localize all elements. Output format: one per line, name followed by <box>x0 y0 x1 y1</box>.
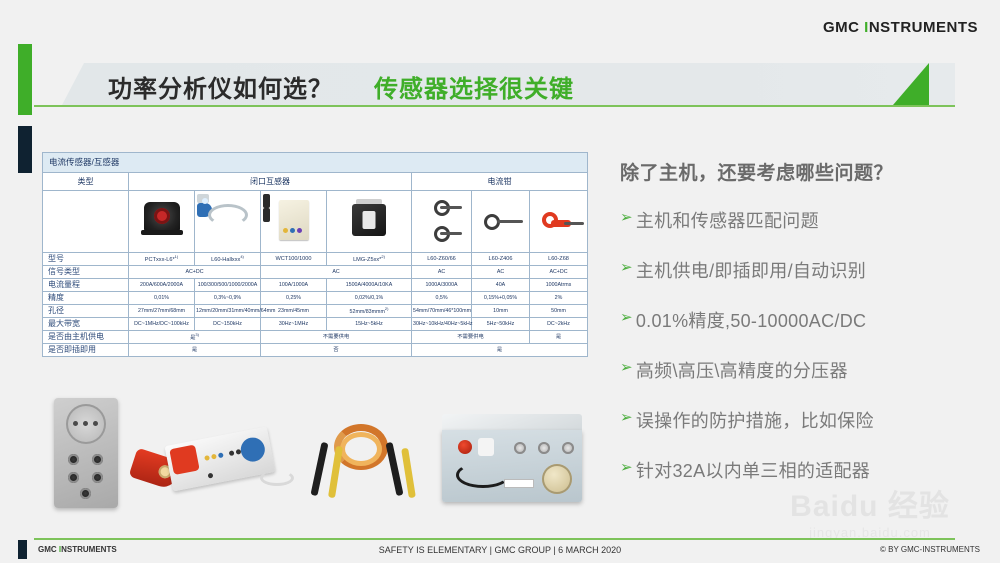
table-row-model: 型号 PCTxxx-L6*1) L60-Hallxxx4) WCT100/100… <box>43 253 588 266</box>
table-image-row <box>43 191 588 253</box>
footer-divider <box>34 538 955 540</box>
chevron-right-icon: ➢ <box>620 457 633 479</box>
page-title: 功率分析仪如何选？ <box>108 69 333 104</box>
instrument-cable-icon <box>456 462 510 488</box>
hall-cable-icon <box>208 204 248 226</box>
jack-u1-icon <box>68 454 79 465</box>
product-image-z60 <box>412 191 472 253</box>
brand-logo-text-1: GMC <box>823 19 864 36</box>
aperture-3: 52mm/83mmm2) <box>327 305 412 318</box>
table-row-bandwidth: 最大带宽 DC~1MHz/DC~100kHz DC~150kHz 30Hz~1M… <box>43 318 588 331</box>
table-row-range: 电流量程 200A/600A/2000A 100/300/500/1000/20… <box>43 279 588 292</box>
clamp-lead-lower-icon <box>440 232 462 235</box>
bullet-label-4: 高频\高压\高精度的分压器 <box>636 357 848 383</box>
signal-ac-2: AC <box>412 266 472 279</box>
lmg-window-icon <box>363 211 376 229</box>
aperture-5: 10mm <box>472 305 530 318</box>
bullet-item-4: ➢ 高频\高压\高精度的分压器 <box>620 357 988 383</box>
lead-tip-yellow-1-icon <box>328 446 343 498</box>
chevron-right-icon: ➢ <box>620 207 633 229</box>
aperture-4: 54mm/70mm/46*100mm <box>412 305 472 318</box>
bandwidth-3: 15Hz~5kHz <box>327 318 412 331</box>
accuracy-1: 0,3%~0,9% <box>195 292 261 305</box>
instrument-label-icon <box>504 479 534 488</box>
brand-logo-text-3: NSTRUMENTS <box>869 19 978 36</box>
model-z406: L60-Z406 <box>472 253 530 266</box>
table-caption: 电流传感器/互感器 <box>43 153 588 173</box>
range-3: 1500A/4000A/10KA <box>327 279 412 292</box>
instrument-faceplate-icon <box>442 430 582 502</box>
model-pct: PCTxxx-L6*1) <box>129 253 195 266</box>
sensor-spec-table: 电流传感器/互感器 类型 闭口互感器 电流钳 <box>42 152 588 357</box>
chevron-right-icon: ➢ <box>620 307 633 329</box>
model-z68: L60-Z68 <box>530 253 588 266</box>
photo-cee-adapter <box>132 430 292 504</box>
model-lmg-text: LMG-Z5xx* <box>353 257 381 263</box>
wct-ear-right-icon <box>263 208 270 222</box>
cee-box-icon <box>165 427 276 492</box>
model-hall-note: 4) <box>240 254 244 259</box>
model-z60: L60-Z60/66 <box>412 253 472 266</box>
product-image-pct <box>129 191 195 253</box>
chevron-right-icon: ➢ <box>620 407 633 429</box>
model-hall: L60-Hallxxx4) <box>195 253 261 266</box>
row-label-aperture: 孔径 <box>43 305 129 318</box>
powered-1: 不需要供电 <box>261 331 412 344</box>
signal-ac-1: AC <box>261 266 412 279</box>
bandwidth-1: DC~150kHz <box>195 318 261 331</box>
aperture-6: 50mm <box>530 305 588 318</box>
cee-terminals-icon <box>202 442 248 485</box>
bandwidth-2: 30Hz~1MHz <box>261 318 327 331</box>
accent-bar-navy <box>18 126 32 173</box>
product-image-z406 <box>472 191 530 253</box>
bandwidth-5: 5Hz~50kHz <box>472 318 530 331</box>
table-row-aperture: 孔径 27mm/27mm/68mm 12mm/20mm/31mm/40mm/64… <box>43 305 588 318</box>
jack-i2-icon <box>92 472 103 483</box>
footer-copyright: © BY GMC-INSTRUMENTS <box>880 545 980 554</box>
aperture-3-text: 52mm/83mmm <box>350 309 385 315</box>
product-image-lmg <box>327 191 412 253</box>
signal-acdc-2: AC+DC <box>530 266 588 279</box>
instrument-bnc-3-icon <box>562 442 574 454</box>
range-6: 1000Atrms <box>530 279 588 292</box>
aperture-3-note: 2) <box>385 306 389 311</box>
accuracy-4: 0,5% <box>412 292 472 305</box>
wct-ear-left-icon <box>263 194 270 208</box>
bullet-label-6: 针对32A以内单三相的适配器 <box>636 457 870 483</box>
accuracy-0: 0,01% <box>129 292 195 305</box>
header-clamp: 电流钳 <box>412 173 588 191</box>
table-header-row: 类型 闭口互感器 电流钳 <box>43 173 588 191</box>
bullet-label-1: 主机和传感器匹配问题 <box>636 207 819 233</box>
considerations-heading: 除了主机，还要考虑哪些问题？ <box>620 158 988 185</box>
powered-3: 是 <box>530 331 588 344</box>
lead-tip-black-1-icon <box>310 442 328 496</box>
plugplay-0: 是 <box>129 344 261 357</box>
powered-0-note: 3) <box>195 332 199 337</box>
bullet-label-2: 主机供电/即插即用/自动识别 <box>636 257 866 283</box>
bullet-item-5: ➢ 误操作的防护措施，比如保险 <box>620 407 988 433</box>
model-pct-note: 1) <box>175 254 179 259</box>
model-wct: WCT100/1000 <box>261 253 327 266</box>
range-0: 200A/600A/2000A <box>129 279 195 292</box>
chevron-right-icon: ➢ <box>620 257 633 279</box>
instrument-bnc-2-icon <box>538 442 550 454</box>
product-image-hall <box>195 191 261 253</box>
chevron-right-icon: ➢ <box>620 357 633 379</box>
slide-canvas: GMC INSTRUMENTS 功率分析仪如何选？ 传感器选择很关键 电流传感器… <box>0 0 1000 563</box>
aperture-1: 12mm/20mm/31mm/40mm/64mm <box>195 305 261 318</box>
accuracy-6: 2% <box>530 292 588 305</box>
cee-cable-icon <box>260 470 294 486</box>
page-subtitle: 传感器选择很关键 <box>374 69 574 104</box>
product-image-wct <box>261 191 327 253</box>
toroid-aperture-icon <box>154 208 170 224</box>
considerations-panel: 除了主机，还要考虑哪些问题？ ➢ 主机和传感器匹配问题 ➢ 主机供电/即插即用/… <box>620 158 988 507</box>
row-label-signal: 信号类型 <box>43 266 129 279</box>
aperture-0: 27mm/27mm/68mm <box>129 305 195 318</box>
bandwidth-4: 30Hz~10kHz/40Hz~5kHz <box>412 318 472 331</box>
title-banner-wedge-icon <box>893 63 929 105</box>
range-5: 40A <box>472 279 530 292</box>
header-closed-loop: 闭口互感器 <box>129 173 412 191</box>
table-row-accuracy: 精度 0,01% 0,3%~0,9% 0,25% 0,02%/0,1% 0,5%… <box>43 292 588 305</box>
accuracy-2: 0,25% <box>261 292 327 305</box>
header-type: 类型 <box>43 173 129 191</box>
product-image-z68 <box>530 191 588 253</box>
range-1: 100/300/500/1000/2000A <box>195 279 261 292</box>
sensor-spec-table-wrapper: 电流传感器/互感器 类型 闭口互感器 电流钳 <box>42 152 587 357</box>
clamp-z406-lead-icon <box>497 220 523 223</box>
lead-tip-yellow-2-icon <box>401 448 416 498</box>
accuracy-5: 0,15%+0,05% <box>472 292 530 305</box>
bullet-item-2: ➢ 主机供电/即插即用/自动识别 <box>620 257 988 283</box>
row-label-range: 电流量程 <box>43 279 129 292</box>
cee-red-socket-icon <box>169 445 199 475</box>
clamp-z68-lead-icon <box>564 222 584 225</box>
instrument-red-terminal-icon <box>458 440 472 454</box>
lead-coil-inner-icon <box>340 432 382 466</box>
accuracy-3: 0,02%/0,1% <box>327 292 412 305</box>
brand-logo: GMC INSTRUMENTS <box>823 19 978 36</box>
wct-terminals-icon <box>283 228 305 234</box>
socket-icon <box>66 404 106 444</box>
row-label-accuracy: 精度 <box>43 292 129 305</box>
signal-acdc-1: AC+DC <box>129 266 261 279</box>
row-label-bandwidth: 最大带宽 <box>43 318 129 331</box>
bullet-label-3: 0.01%精度,50-10000AC/DC <box>636 307 866 333</box>
model-lmg-note: 2) <box>381 254 385 259</box>
photo-mains-adapter <box>54 398 118 508</box>
photo-test-leads <box>304 406 424 506</box>
model-pct-text: PCTxxx-L6* <box>145 257 175 263</box>
range-4: 1000A/3000A <box>412 279 472 292</box>
table-row-signal: 信号类型 AC+DC AC AC AC AC+DC <box>43 266 588 279</box>
jack-pe-icon <box>80 488 91 499</box>
instrument-bnc-1-icon <box>514 442 526 454</box>
accent-bar-green <box>18 44 32 115</box>
powered-0: 是3) <box>129 331 261 344</box>
table-row-powered: 是否由主机供电 是3) 不需要供电 不需要供电 是 <box>43 331 588 344</box>
bullet-item-6: ➢ 针对32A以内单三相的适配器 <box>620 457 988 483</box>
range-2: 100A/1000A <box>261 279 327 292</box>
bullet-item-1: ➢ 主机和传感器匹配问题 <box>620 207 988 233</box>
plugplay-2: 是 <box>412 344 588 357</box>
bullet-item-3: ➢ 0.01%精度,50-10000AC/DC <box>620 307 988 333</box>
powered-2: 不需要供电 <box>412 331 530 344</box>
model-lmg: LMG-Z5xx*2) <box>327 253 412 266</box>
product-photo-row <box>46 392 591 512</box>
signal-ac-3: AC <box>472 266 530 279</box>
model-hall-text: L60-Hallxxx <box>211 257 240 263</box>
instrument-white-connector-icon <box>478 438 494 456</box>
photo-instrument-box <box>436 414 584 504</box>
clamp-lead-upper-icon <box>440 206 462 209</box>
row-label-plugplay: 是否即插即用 <box>43 344 129 357</box>
row-label-model: 型号 <box>43 253 129 266</box>
table-caption-row: 电流传感器/互感器 <box>43 153 588 173</box>
table-row-plugplay: 是否即插即用 是 否 是 <box>43 344 588 357</box>
plugplay-1: 否 <box>261 344 412 357</box>
jack-i1-icon <box>92 454 103 465</box>
instrument-knob-icon <box>542 464 572 494</box>
bullet-label-5: 误操作的防护措施，比如保险 <box>636 407 874 433</box>
bandwidth-6: DC~2kHz <box>530 318 588 331</box>
title-underline <box>34 105 955 107</box>
row-label-powered: 是否由主机供电 <box>43 331 129 344</box>
toroid-base-icon <box>141 230 183 235</box>
image-row-label-cell <box>43 191 129 253</box>
jack-u2-icon <box>68 472 79 483</box>
bandwidth-0: DC~1MHz/DC~100kHz <box>129 318 195 331</box>
footer-center-text: SAFETY IS ELEMENTARY | GMC GROUP | 6 MAR… <box>0 545 1000 555</box>
